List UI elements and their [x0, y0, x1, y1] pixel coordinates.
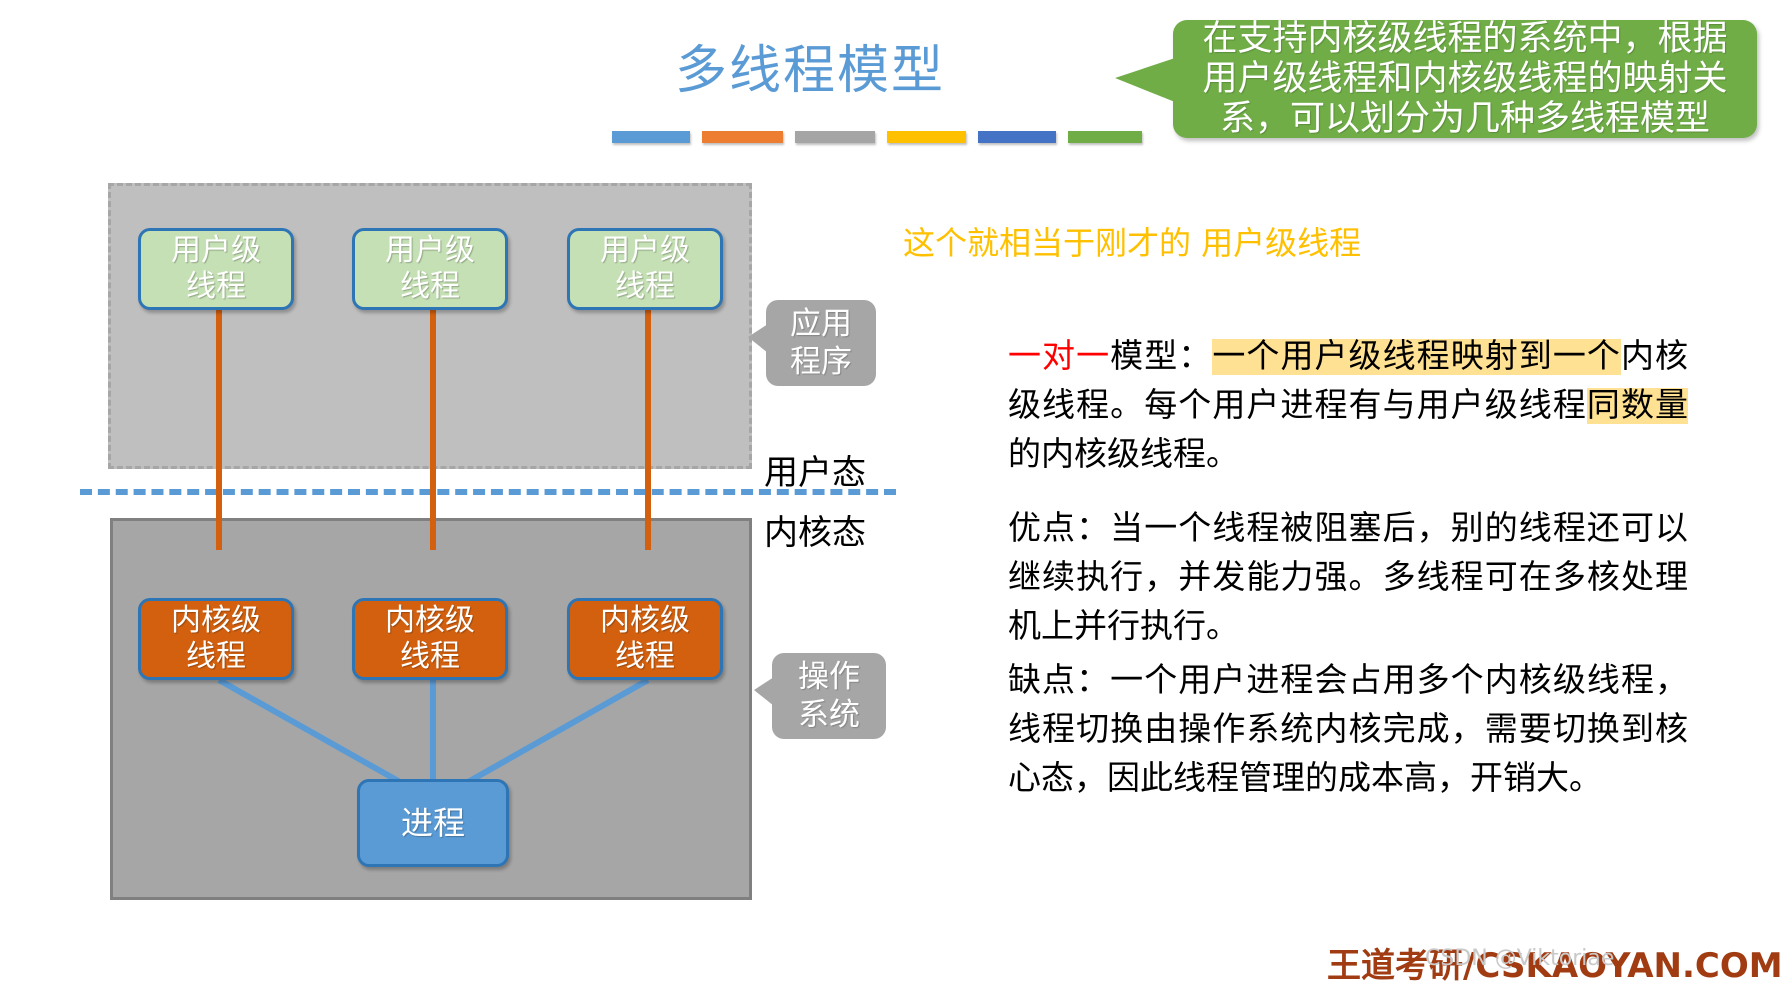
- user-thread-label-line2: 线程: [186, 269, 246, 305]
- kernel-thread-label-line2: 线程: [186, 639, 246, 675]
- para1-seg-d: 的内核级线程。: [1008, 437, 1239, 473]
- callout-tail: [754, 677, 774, 706]
- title-accent-bar-6: [1068, 131, 1142, 143]
- kernel-thread-label-line1: 内核级: [600, 603, 690, 639]
- kernel-thread-box-1[interactable]: 内核级 线程: [138, 598, 294, 680]
- kernel-thread-label-line2: 线程: [615, 639, 675, 675]
- kernel-thread-label-line1: 内核级: [385, 603, 475, 639]
- user-thread-label-line2: 线程: [615, 269, 675, 305]
- user-thread-label-line2: 线程: [400, 269, 460, 305]
- user-mode-label: 用户态: [764, 445, 866, 494]
- intro-callout-text: 在支持内核级线程的系统中，根据用户级线程和内核级线程的映射关系，可以划分为几种多…: [1173, 20, 1757, 138]
- link-user-to-kernel-2: [430, 308, 436, 550]
- callout-tail: [748, 324, 768, 353]
- user-thread-box-1[interactable]: 用户级 线程: [138, 228, 294, 310]
- kernel-thread-box-3[interactable]: 内核级 线程: [567, 598, 723, 680]
- paragraph-disadvantages: 缺点：一个用户进程会占用多个内核级线程，线程切换由操作系统内核完成，需要切换到核…: [1008, 657, 1688, 804]
- kernel-thread-label-line1: 内核级: [171, 603, 261, 639]
- os-callout-line2: 系统: [798, 696, 860, 734]
- callout-tail: [1115, 58, 1175, 102]
- user-thread-label-line1: 用户级: [171, 233, 261, 269]
- kernel-thread-box-2[interactable]: 内核级 线程: [352, 598, 508, 680]
- os-callout-line1: 操作: [798, 658, 860, 696]
- application-callout-line1: 应用: [790, 305, 852, 343]
- process-box[interactable]: 进程: [357, 779, 509, 867]
- operating-system-callout: 操作 系统: [772, 653, 886, 739]
- application-callout-line2: 程序: [790, 343, 852, 381]
- user-thread-label-line1: 用户级: [600, 233, 690, 269]
- page-title: 多线程模型: [600, 28, 1020, 103]
- application-callout: 应用 程序: [766, 300, 876, 386]
- kernel-mode-label: 内核态: [764, 505, 866, 554]
- para1-highlight-3: 同数量: [1587, 388, 1688, 424]
- user-thread-box-2[interactable]: 用户级 线程: [352, 228, 508, 310]
- para1-highlight-2: 一个: [1553, 339, 1621, 375]
- title-accent-bar-1: [612, 131, 690, 143]
- csdn-watermark: CSDN @Viktoriae: [1425, 946, 1614, 971]
- para1-highlight-1: 一个用户级线程映射到: [1212, 339, 1553, 375]
- intro-callout: 在支持内核级线程的系统中，根据用户级线程和内核级线程的映射关系，可以划分为几种多…: [1173, 20, 1757, 138]
- orange-annotation: 这个就相当于刚才的 用户级线程: [903, 218, 1361, 264]
- kernel-thread-label-line2: 线程: [400, 639, 460, 675]
- slide-canvas: 多线程模型 在支持内核级线程的系统中，根据用户级线程和内核级线程的映射关系，可以…: [0, 0, 1780, 992]
- title-accent-bar-2: [702, 131, 783, 143]
- paragraph-advantages: 优点：当一个线程被阻塞后，别的线程还可以继续执行，并发能力强。多线程可在多核处理…: [1008, 505, 1688, 652]
- user-thread-label-line1: 用户级: [385, 233, 475, 269]
- link-user-to-kernel-3: [645, 308, 651, 550]
- title-accent-bars: [612, 131, 1142, 143]
- process-label: 进程: [401, 805, 465, 841]
- link-user-to-kernel-1: [216, 308, 222, 550]
- title-accent-bar-4: [887, 131, 967, 143]
- title-accent-bar-3: [795, 131, 875, 143]
- title-accent-bar-5: [978, 131, 1056, 143]
- paragraph-one-to-one: 一对一模型：一个用户级线程映射到一个内核级线程。每个用户进程有与用户级线程同数量…: [1008, 333, 1688, 480]
- para1-red-term: 一对一: [1008, 339, 1110, 375]
- para1-seg-a: 模型：: [1110, 339, 1212, 375]
- user-thread-box-3[interactable]: 用户级 线程: [567, 228, 723, 310]
